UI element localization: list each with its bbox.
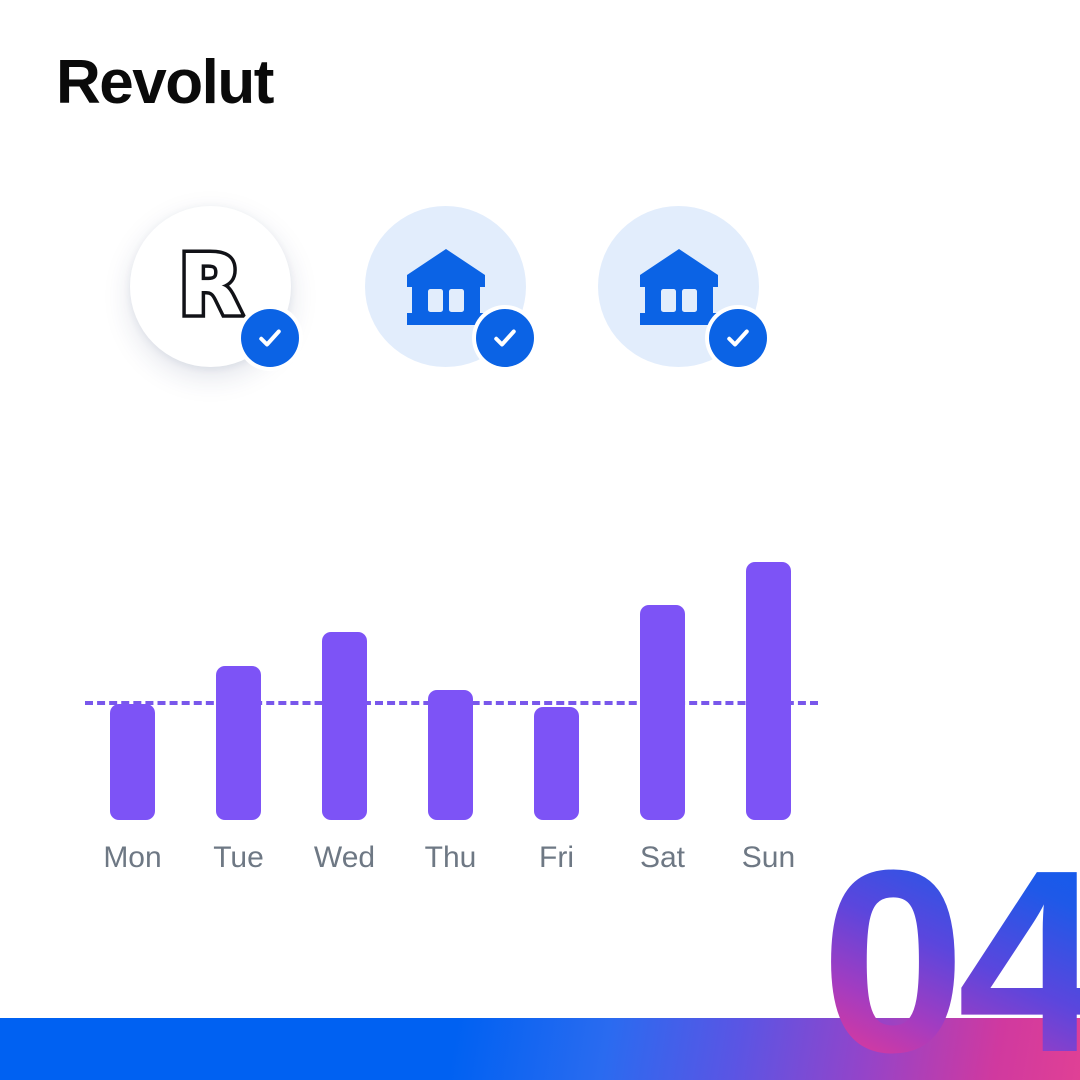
chart-bar[interactable] [640, 605, 685, 820]
chart-x-label: Sun [709, 841, 829, 874]
account-chip-bank-1[interactable] [365, 206, 526, 367]
chart-bar[interactable] [216, 666, 261, 820]
account-chip-bank-2[interactable] [598, 206, 759, 367]
verified-badge [472, 305, 538, 371]
revolut-r-logo-icon: R [178, 243, 243, 327]
chart-x-label: Sat [603, 841, 723, 874]
connected-accounts-row: R [130, 206, 830, 386]
chart-x-label: Wed [285, 841, 405, 874]
chart-x-label: Fri [497, 841, 617, 874]
check-icon [255, 323, 285, 353]
chart-bar[interactable] [746, 562, 791, 820]
bank-icon [404, 247, 488, 327]
verified-badge [237, 305, 303, 371]
chart-x-label: Thu [391, 841, 511, 874]
check-icon [723, 323, 753, 353]
chart-plot-area [0, 540, 1080, 820]
chart-bar[interactable] [534, 707, 579, 820]
chart-bar[interactable] [322, 632, 367, 820]
slide-number: 04 [821, 832, 1080, 1080]
account-chip-revolut[interactable]: R [130, 206, 291, 367]
bank-icon [637, 247, 721, 327]
chart-bar[interactable] [110, 704, 155, 820]
slide-canvas: Revolut R [0, 0, 1080, 1080]
chart-x-label: Tue [179, 841, 299, 874]
chart-x-label: Mon [73, 841, 193, 874]
verified-badge [705, 305, 771, 371]
revolut-wordmark: Revolut [56, 52, 273, 114]
chart-bar[interactable] [428, 690, 473, 820]
check-icon [490, 323, 520, 353]
